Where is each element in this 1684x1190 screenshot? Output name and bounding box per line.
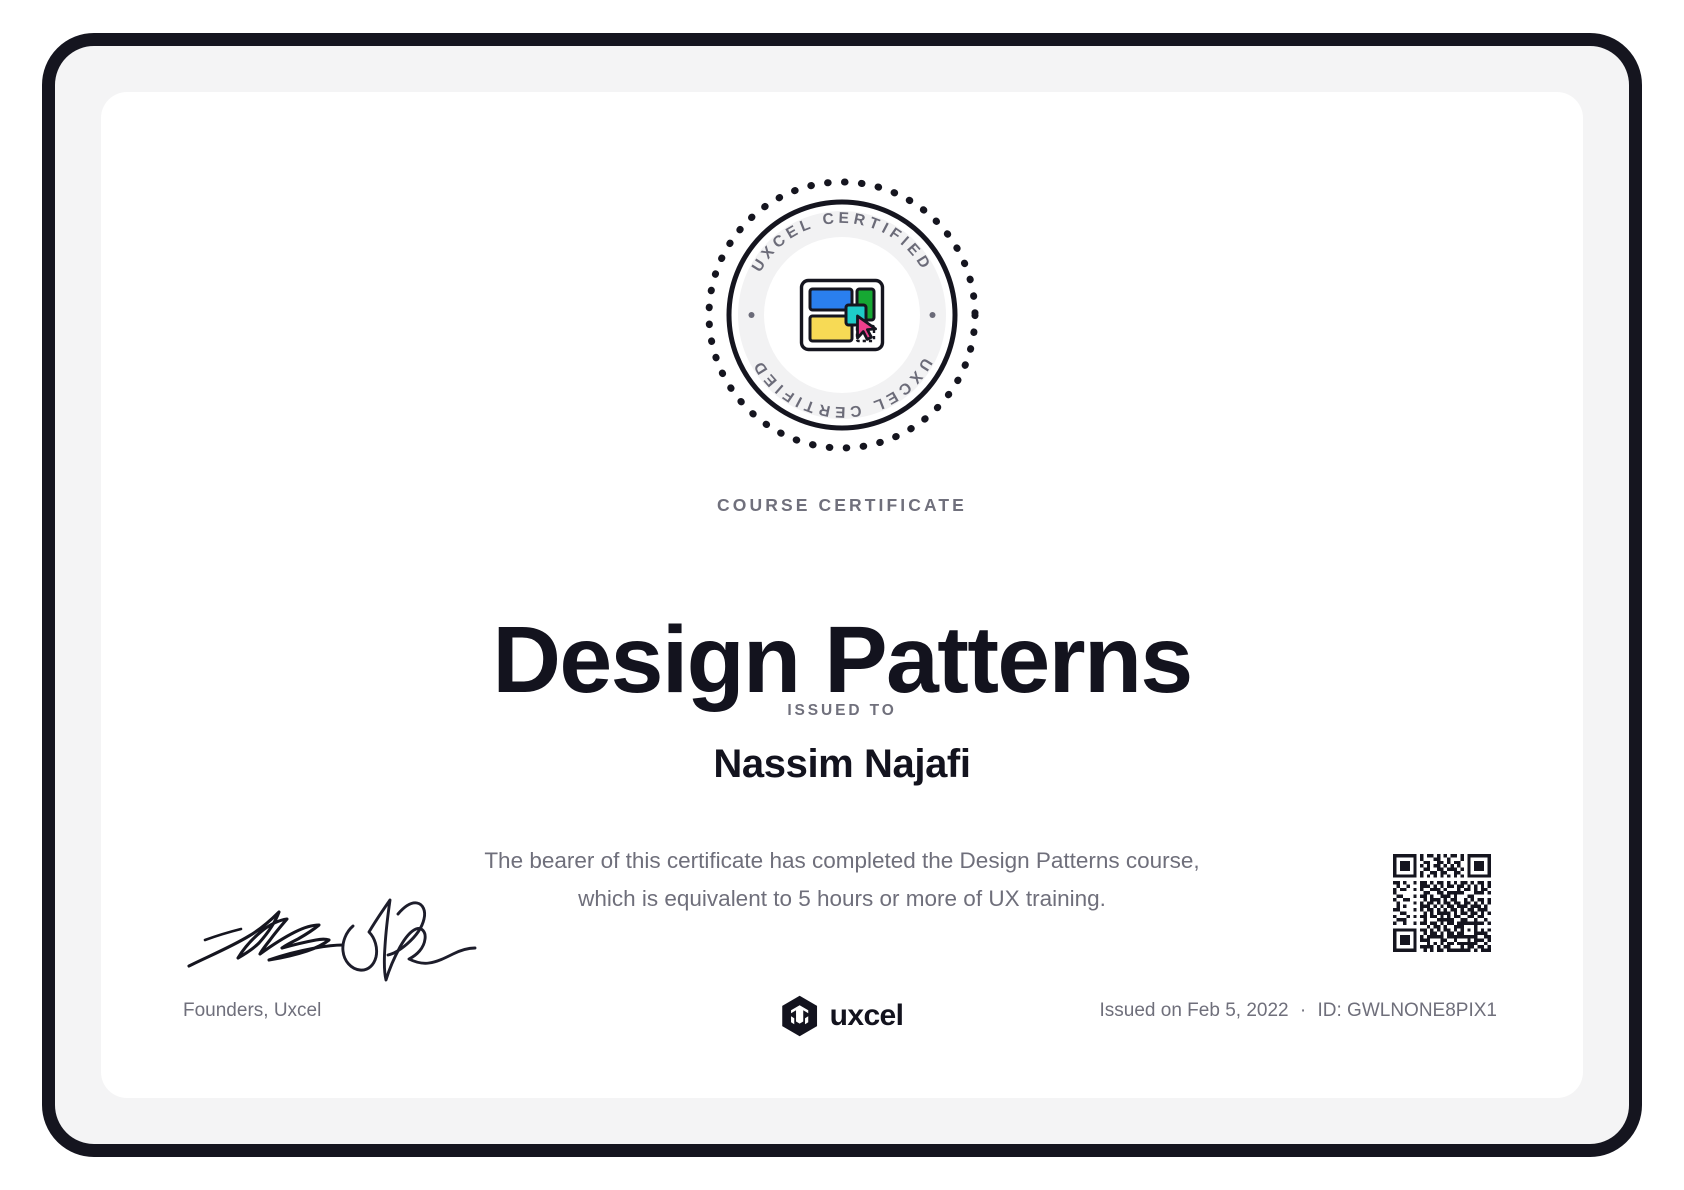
founder-signature-one bbox=[189, 912, 343, 966]
seal-bullet-right bbox=[930, 312, 936, 318]
founder-signature-two bbox=[343, 900, 475, 980]
course-title: Design Patterns bbox=[101, 603, 1583, 718]
founder-signatures bbox=[183, 892, 483, 992]
issue-metadata: Issued on Feb 5, 2022 · ID: GWLNONE8PIX1 bbox=[1100, 1000, 1497, 1022]
certificate-inner-card: UXCEL CERTIFIED UXCEL CERTIFIED bbox=[101, 92, 1583, 1098]
uxcel-certified-seal: UXCEL CERTIFIED UXCEL CERTIFIED bbox=[702, 175, 982, 455]
recipient-name: Nassim Najafi bbox=[101, 742, 1583, 787]
certificate-page: UXCEL CERTIFIED UXCEL CERTIFIED bbox=[0, 0, 1684, 1190]
issued-on-date: Issued on Feb 5, 2022 bbox=[1100, 1000, 1289, 1021]
uxcel-wordmark: uxcel bbox=[830, 999, 904, 1033]
qr-code[interactable] bbox=[1393, 854, 1491, 952]
seal-bullet-left bbox=[749, 312, 755, 318]
issued-to-label: ISSUED TO bbox=[101, 702, 1583, 720]
certificate-outer-frame: UXCEL CERTIFIED UXCEL CERTIFIED bbox=[42, 33, 1642, 1157]
certificate-description: The bearer of this certificate has compl… bbox=[462, 842, 1222, 918]
signature-caption: Founders, Uxcel bbox=[183, 1000, 321, 1022]
uxcel-brand-logo: uxcel bbox=[781, 995, 904, 1037]
certificate-id: ID: GWLNONE8PIX1 bbox=[1318, 1000, 1498, 1021]
uxcel-hexagon-cube-logo-icon bbox=[781, 995, 819, 1037]
design-patterns-icon bbox=[799, 278, 885, 352]
meta-separator: · bbox=[1294, 1000, 1312, 1021]
eyebrow-label: COURSE CERTIFICATE bbox=[101, 495, 1583, 516]
